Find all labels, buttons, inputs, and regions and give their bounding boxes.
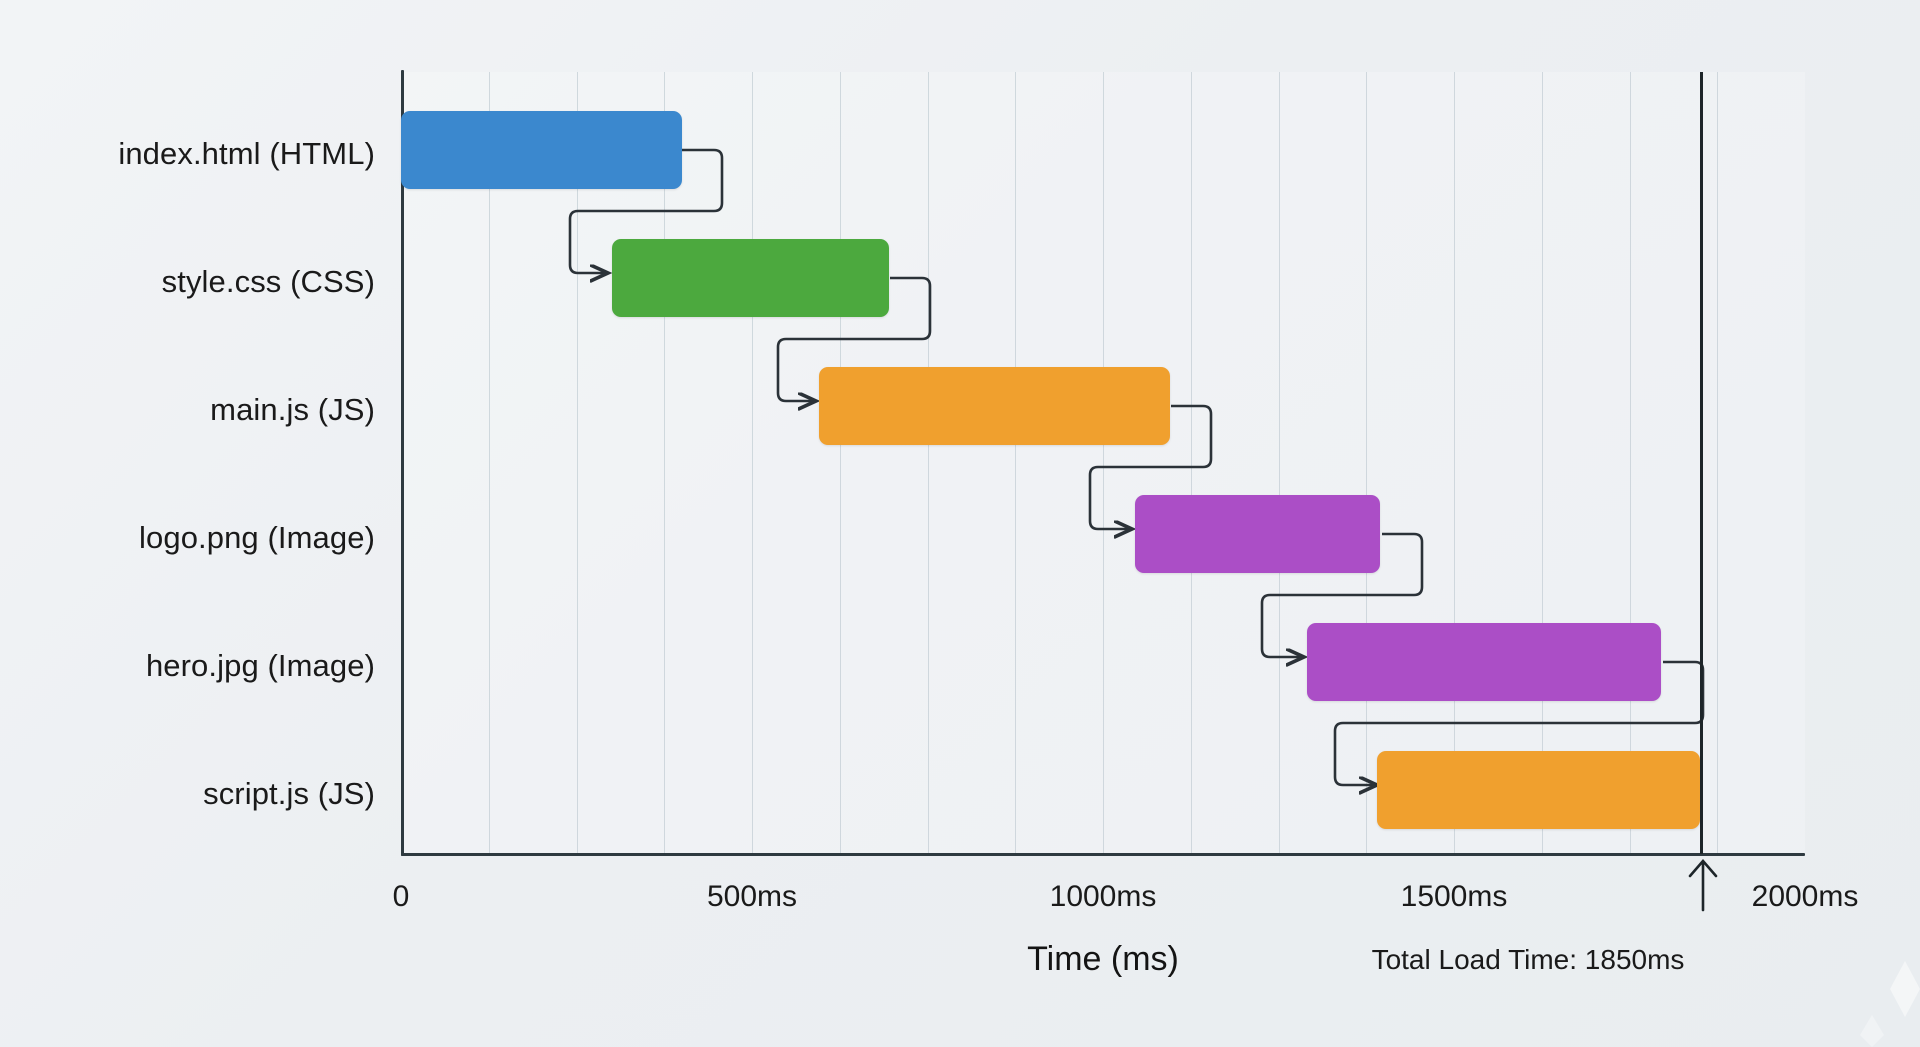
gridline: [577, 72, 578, 854]
gridline: [1454, 72, 1455, 854]
total-load-time-annotation: Total Load Time: 1850ms: [1372, 944, 1685, 976]
gridline: [752, 72, 753, 854]
x-tick-label-2000: 2000ms: [1752, 880, 1859, 914]
gridline: [1191, 72, 1192, 854]
gridline: [664, 72, 665, 854]
x-axis-title: Time (ms): [1027, 940, 1179, 979]
gridline: [928, 72, 929, 854]
gridline: [1103, 72, 1104, 854]
bar-logo-png[interactable]: [1135, 495, 1381, 573]
up-arrow-icon: [1690, 861, 1716, 910]
bar-style-css[interactable]: [612, 239, 889, 317]
gridline: [1542, 72, 1543, 854]
row-label-index-html: index.html (HTML): [118, 136, 375, 172]
row-label-style-css: style.css (CSS): [162, 264, 375, 300]
corner-sparkle-icon: [1810, 927, 1920, 1047]
x-tick-label-1000: 1000ms: [1050, 880, 1157, 914]
row-label-main-js: main.js (JS): [210, 392, 375, 428]
x-axis-line: [401, 853, 1805, 856]
bar-script-js[interactable]: [1377, 751, 1700, 829]
gridline: [1366, 72, 1367, 854]
total-load-marker-line: [1700, 72, 1703, 854]
plot-area: [401, 72, 1805, 854]
bar-index-html[interactable]: [401, 111, 682, 189]
gridline: [1717, 72, 1718, 854]
gridline: [1630, 72, 1631, 854]
row-label-script-js: script.js (JS): [203, 776, 375, 812]
gridline: [1279, 72, 1280, 854]
row-label-logo-png: logo.png (Image): [139, 520, 375, 556]
x-tick-label-1500: 1500ms: [1401, 880, 1508, 914]
gridline: [489, 72, 490, 854]
bar-hero-jpg[interactable]: [1307, 623, 1662, 701]
x-tick-label-0: 0: [393, 880, 410, 914]
resource-waterfall-chart: index.html (HTML) style.css (CSS) main.j…: [0, 0, 1920, 1047]
x-tick-label-500: 500ms: [707, 880, 797, 914]
gridline: [1015, 72, 1016, 854]
bar-main-js[interactable]: [819, 367, 1170, 445]
row-label-hero-jpg: hero.jpg (Image): [146, 648, 375, 684]
gridline: [840, 72, 841, 854]
y-axis-line: [401, 70, 404, 856]
